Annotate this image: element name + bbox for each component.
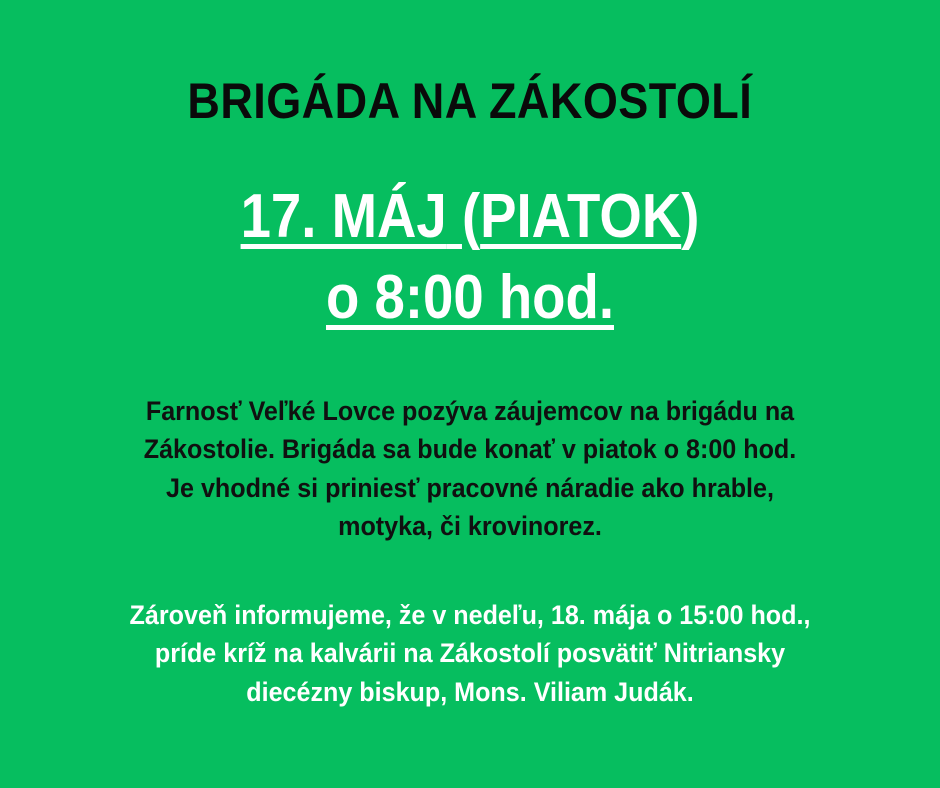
paragraph-line: príde kríž na kalvárii na Zákostolí posv… [33,634,907,672]
paren-open: ( [462,182,480,251]
day-text: PIATOK [480,182,681,251]
paragraph-line: Zároveň informujeme, že v nedeľu, 18. má… [33,596,907,634]
date-headline-line-1: 17. MÁJ (PIATOK) [56,180,883,253]
announcement-poster: BRIGÁDA NA ZÁKOSTOLÍ 17. MÁJ (PIATOK) o … [0,0,940,788]
paren-close: ) [681,182,699,251]
date-headline-line-2: o 8:00 hod. [56,261,883,334]
paragraph-announcement: Zároveň informujeme, že v nedeľu, 18. má… [0,596,940,711]
date-text: 17. MÁJ [241,182,447,251]
time-text: o 8:00 hod. [326,263,614,332]
paragraph-line: diecézny biskup, Mons. Viliam Judák. [33,673,907,711]
date-headline-block: 17. MÁJ (PIATOK) o 8:00 hod. [0,180,940,334]
title-block: BRIGÁDA NA ZÁKOSTOLÍ [0,76,940,126]
paragraph-line: Zákostolie. Brigáda sa bude konať v piat… [33,430,907,468]
page-title: BRIGÁDA NA ZÁKOSTOLÍ [188,76,753,126]
paragraph-line: Je vhodné si priniesť pracovné náradie a… [33,469,907,507]
paragraph-line: motyka, či krovinorez. [33,507,907,545]
paragraph-line: Farnosť Veľké Lovce pozýva záujemcov na … [33,392,907,430]
paragraph-invitation: Farnosť Veľké Lovce pozýva záujemcov na … [0,392,940,545]
date-underlined-space [447,182,462,251]
